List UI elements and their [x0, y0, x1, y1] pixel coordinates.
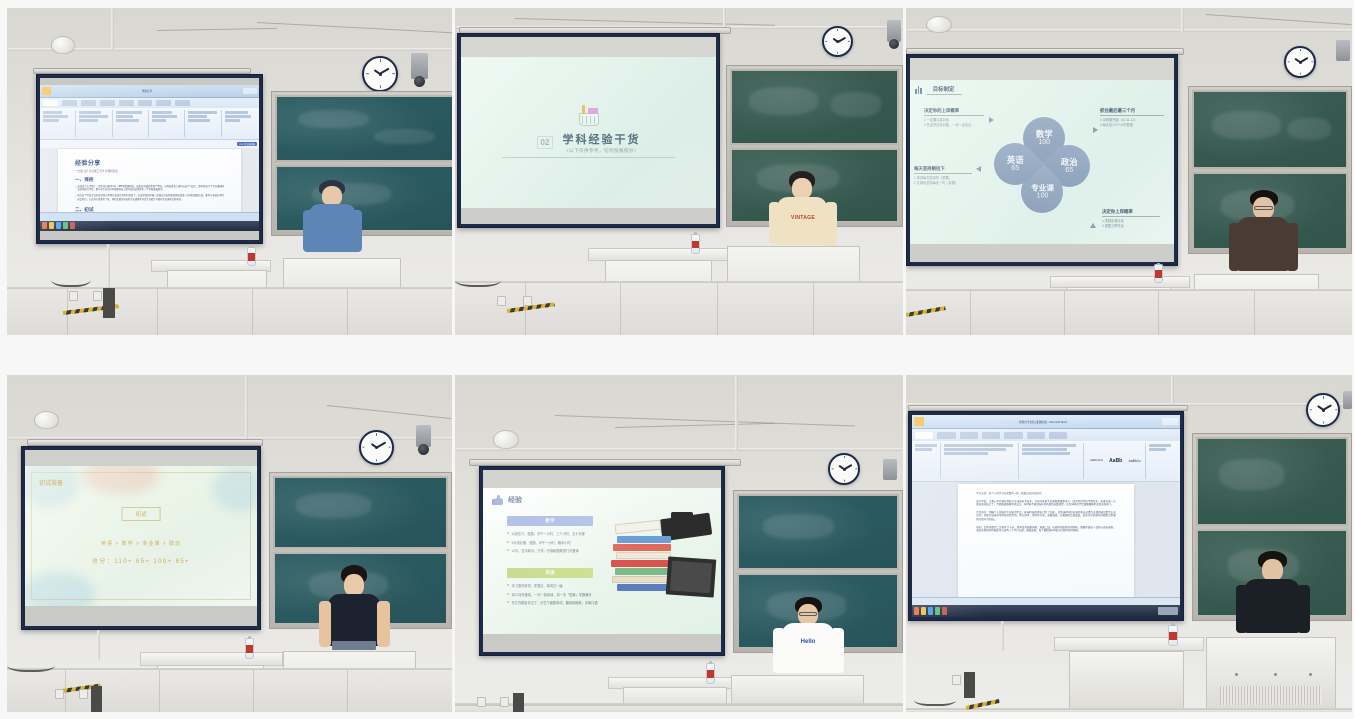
thumbs-up-icon	[492, 495, 503, 505]
presenter-person	[319, 565, 391, 653]
ppt-section-divider-slide[interactable]: 02 学科经验干货 （以下仅供参考，切勿照搬照抄）	[461, 57, 716, 208]
app-title-bar: 经验分享	[40, 85, 259, 98]
arrow-up-icon	[1090, 223, 1096, 228]
doc-heading-1: 一、择校	[75, 177, 224, 183]
slide-title: 经验	[508, 495, 522, 505]
projector-screen-4: 初试准备 初试 英语 > 数学 > 专业课 > 政治 总分：110+ 65+ 1…	[21, 446, 261, 630]
ceiling-speaker-icon	[926, 16, 952, 33]
bullet-text: 12月、在冲刺月、只背／开卷刷题新的门与差体	[512, 548, 579, 553]
lobe-value: 65	[1007, 165, 1024, 172]
scores-row: 总分：110+ 65+ 100+ 65+	[25, 556, 257, 565]
projector-screen-2: 02 学科经验干货 （以下仅供参考，切勿照搬照抄）	[457, 33, 720, 228]
callout-bottom-right: 决定你上岸概率 1 重制定课计划 2 调整习惯作息	[1102, 209, 1160, 228]
app-ribbon[interactable]	[40, 108, 259, 140]
word-app-window[interactable]: 经验分享	[40, 85, 259, 231]
os-taskbar[interactable]	[40, 221, 259, 231]
photo-card-5[interactable]: 经验 数学 大纲复习、做题、中午一小时、三个小时、五十分钟	[455, 375, 903, 712]
app-status-bar	[40, 212, 259, 221]
books-illustration	[611, 514, 715, 614]
projector-screen-5: 经验 数学 大纲复习、做题、中午一小时、三个小时、五十分钟	[479, 466, 725, 656]
lobe-value: 65	[1061, 167, 1078, 174]
lobe-label: 数学	[1036, 130, 1053, 139]
side-counter	[140, 652, 283, 666]
document-canvas[interactable]: 经验分享 一志愿上岸 长沙理工大学 计算机专业 一、择校 • 选择适合大学理工，…	[40, 148, 259, 212]
app-ribbon-tabs[interactable]	[912, 429, 1180, 441]
shirt-graphic-text: Hello	[788, 639, 828, 645]
section-number-badge: 02	[537, 136, 554, 149]
lobe-value: 100	[1036, 139, 1053, 146]
subjects-row: 英语 > 数学 > 专业课 > 政治	[25, 540, 257, 547]
bullet-text: 9月强化期、做题、中午一小时、晚半小时	[512, 540, 571, 545]
lobe-label: 政治	[1061, 158, 1078, 167]
callout-top-right: 抓住最后最三个月 1 冲刺期开始（10-11-12） 2 每天至少2个小时复盘	[1100, 108, 1164, 127]
doc-title: 经验分享	[75, 158, 224, 167]
app-status-bar	[912, 597, 1180, 605]
section-title: 学科经验干货	[562, 131, 640, 147]
section-label-english: 英语	[507, 568, 593, 578]
presenter-person: VINTAGE	[767, 171, 839, 249]
section-label-math: 数学	[507, 516, 593, 526]
app-title-bar: 经验分享文档 [兼容模式] - Microsoft Word	[912, 415, 1180, 429]
water-bottle	[1168, 625, 1178, 646]
water-bottle	[706, 663, 715, 684]
photo-card-6[interactable]: 经验分享文档 [兼容模式] - Microsoft Word	[906, 375, 1352, 712]
wall-clock	[1306, 393, 1340, 427]
doc-paragraph: 调剂：因为当是的二次调考了十分，原本没有想要调剂，准备二战，在调剂系统开放的时候…	[976, 526, 1115, 533]
ceiling-speaker-icon	[34, 411, 59, 429]
water-bottle	[1154, 264, 1163, 283]
style-swatch[interactable]: AaBb	[1109, 458, 1122, 464]
wall-clock	[1284, 46, 1316, 78]
presenter-person: Hello	[773, 597, 845, 677]
arrow-left-icon	[1093, 127, 1098, 133]
security-camera-icon	[883, 459, 897, 480]
doc-paragraph: 选定学校：法看心中的目标院校专业录取名为每年，往年的能招专业课科数量是多少，因为…	[976, 500, 1115, 507]
presenter-person	[1236, 551, 1311, 639]
section-subtitle: （以下仅供参考，切勿照搬照抄）	[564, 148, 639, 154]
callout-left: 每天坚持刷拉下 1 单词每天坚持背（重要） 2 长难句坚持每天一句（真题）	[914, 166, 972, 185]
photo-card-4[interactable]: 初试准备 初试 英语 > 数学 > 专业课 > 政治 总分：110+ 65+ 1…	[7, 375, 452, 712]
ppt-pinwheel-slide[interactable]: 目标制定 数学 100	[910, 80, 1174, 244]
style-swatch[interactable]: AaBbCc	[1129, 459, 1141, 463]
projector-screen-3: 目标制定 数学 100	[906, 54, 1178, 266]
bullet-text: 到12月份做真、一天一篇阅读、另一天「答案」字数满分	[512, 592, 592, 597]
water-bottle	[245, 638, 254, 659]
lectern	[1206, 637, 1336, 712]
wall-clock	[359, 430, 394, 465]
slide-badge: 初试	[122, 507, 161, 521]
arrow-left-icon	[976, 166, 981, 172]
photo-grid: 经验分享	[0, 0, 1354, 719]
ppt-experience-slide[interactable]: 经验 数学 大纲复习、做题、中午一小时、三个小时、五十分钟	[483, 488, 721, 634]
callout-top-left: 决定你的上岸概率 1 一定要认真对待 2 先定好目标分数，一点一点靠近	[924, 108, 984, 127]
bullet-text: 本习语背单词、学语法、单词过一遍	[512, 583, 563, 588]
app-ribbon[interactable]: AaBbCcDd AaBb AaBbCc	[912, 441, 1180, 481]
basket-icon	[576, 105, 602, 127]
water-bottle	[247, 247, 256, 266]
arrow-left-icon	[989, 117, 994, 123]
ceiling-speaker-icon	[51, 36, 75, 54]
bullet-text: 作文背模板背过了、记忆下面整单词、翻译就练练、手和口语	[512, 600, 598, 605]
slide-title: 目标制定	[927, 85, 963, 95]
app-window-title: 经验分享文档 [兼容模式] - Microsoft Word	[1019, 420, 1067, 424]
ppt-score-plan-slide[interactable]: 初试准备 初试 英语 > 数学 > 专业课 > 政治 总分：110+ 65+ 1…	[25, 466, 257, 606]
projector-screen-6: 经验分享文档 [兼容模式] - Microsoft Word	[908, 411, 1184, 621]
podium-left	[1069, 651, 1184, 712]
pdf-editor-button[interactable]: PDF 全文编辑器	[237, 142, 257, 147]
wall-clock	[362, 56, 398, 92]
doc-paragraph-1: 选择适合大学理工，择不盲目报考211／985等重难院校，这类还可确定考哪个学校，…	[77, 186, 224, 193]
app-title-text: 经验分享	[142, 89, 152, 93]
bar-chart-icon	[915, 86, 922, 94]
pinwheel-chart: 数学 100 政治 65	[994, 117, 1090, 213]
photo-card-1[interactable]: 经验分享	[7, 8, 452, 335]
security-camera-icon	[1336, 40, 1350, 61]
water-bottle	[691, 234, 700, 254]
lobe-label: 英语	[1007, 156, 1024, 165]
projector-screen-1: 经验分享	[36, 74, 263, 244]
slide-title: 初试准备	[39, 478, 63, 487]
presenter-person	[303, 180, 363, 262]
doc-paragraph-2: 现在各个学校专业的初试科目不断在变化且考的科目多了，在选学校的时候一定要去目标院…	[77, 195, 224, 202]
doc-heading-2: 二、初试	[75, 207, 224, 212]
lobe-value: 100	[1031, 193, 1054, 200]
doc-subtitle: 一志愿上岸 长沙理工大学 计算机专业	[75, 169, 224, 173]
word-app-window[interactable]: 经验分享文档 [兼容模式] - Microsoft Word	[912, 415, 1180, 617]
wall-clock	[822, 26, 853, 57]
ceiling-speaker-icon	[493, 430, 519, 449]
app-ribbon-tabs[interactable]	[40, 98, 259, 108]
document-canvas[interactable]: 学习方式：每个人的学习方式都不一样，按照自己的来就行。 选定学校：法看心中的目标…	[912, 482, 1180, 597]
doc-paragraph: 复试同年：明确个人掌握的专业知识不定，放当时选择环境工程（专硕），因为当时同比好…	[976, 511, 1115, 522]
photo-card-3[interactable]: 目标制定 数学 100	[906, 8, 1352, 335]
side-counter	[1054, 637, 1204, 651]
shirt-graphic-text: VINTAGE	[785, 215, 821, 221]
os-taskbar[interactable]	[912, 605, 1180, 617]
presenter-person	[1229, 190, 1300, 276]
bullet-text: 大纲复习、做题、中午一小时、三个小时、五十分钟	[512, 531, 585, 536]
security-camera-icon	[1343, 391, 1352, 409]
style-swatch[interactable]: AaBbCcDd	[1090, 459, 1103, 462]
photo-card-2[interactable]: 02 学科经验干货 （以下仅供参考，切勿照搬照抄）	[455, 8, 903, 335]
doc-paragraph: 学习方式：每个人的学习方式都不一样，按照自己的来就行。	[976, 492, 1115, 496]
wall-clock	[828, 453, 860, 485]
